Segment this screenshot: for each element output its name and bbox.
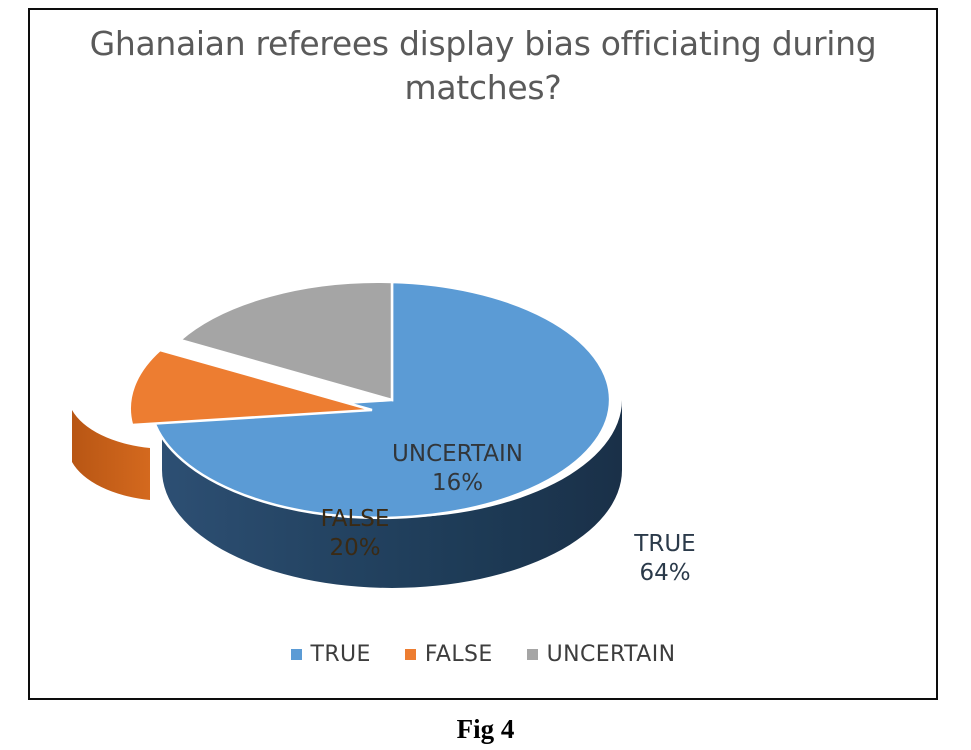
figure-caption: Fig 4 [0, 714, 971, 745]
chart-title: Ghanaian referees display bias officiati… [30, 22, 936, 110]
pie-chart: TRUE 64% FALSE 20% UNCERTAIN 16% [30, 200, 936, 620]
legend-item-uncertain[interactable]: UNCERTAIN [527, 642, 676, 667]
pie-chart-svg [30, 200, 936, 620]
figure-frame: Ghanaian referees display bias officiati… [28, 8, 938, 700]
legend-item-false[interactable]: FALSE [405, 642, 493, 667]
legend-label: TRUE [311, 642, 371, 667]
legend-label: UNCERTAIN [547, 642, 676, 667]
legend-swatch-icon [291, 649, 302, 660]
legend-label: FALSE [425, 642, 493, 667]
legend-swatch-icon [405, 649, 416, 660]
legend-item-true[interactable]: TRUE [291, 642, 371, 667]
chart-legend: TRUE FALSE UNCERTAIN [30, 642, 936, 667]
legend-swatch-icon [527, 649, 538, 660]
